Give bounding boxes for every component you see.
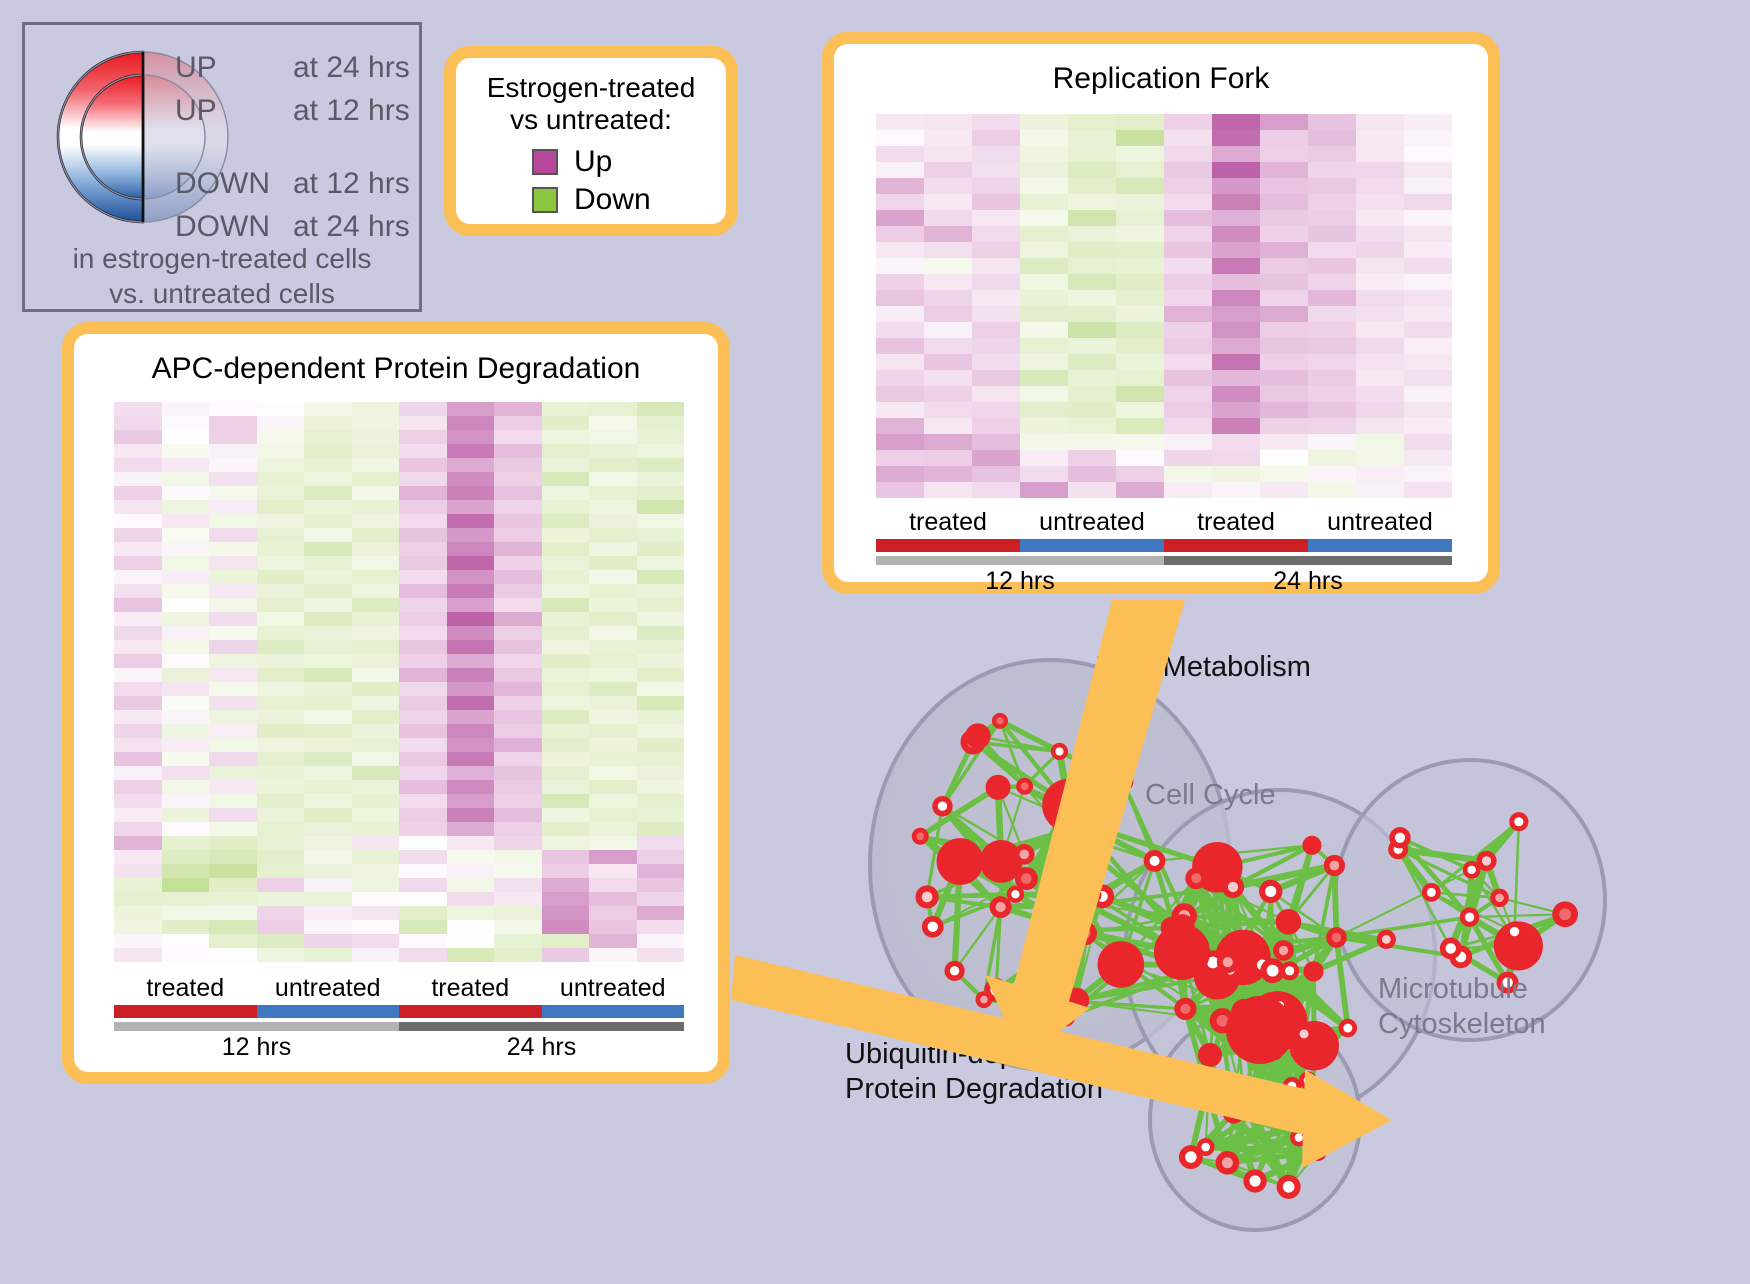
heatmap-cell — [447, 892, 495, 906]
heatmap-cell — [447, 402, 495, 416]
network-node[interactable] — [1309, 1143, 1327, 1161]
heatmap-cell — [1260, 482, 1308, 498]
network-node[interactable] — [1509, 812, 1528, 831]
node-core — [1021, 782, 1029, 790]
network-node[interactable] — [922, 916, 944, 938]
heatmap-cell — [637, 948, 685, 962]
network-node[interactable] — [1007, 886, 1024, 903]
node-core — [1482, 856, 1491, 865]
heatmap-cell — [447, 514, 495, 528]
heatmap-cell — [162, 444, 210, 458]
heatmap-cell — [1260, 402, 1308, 418]
heatmap-cell — [1068, 482, 1116, 498]
heatmap-cell — [162, 696, 210, 710]
heatmap-cell — [352, 640, 400, 654]
heatmap-cell — [304, 542, 352, 556]
heatmap-cell — [257, 402, 305, 416]
heatmap-cell — [1212, 130, 1260, 146]
heatmap-cell — [1164, 242, 1212, 258]
heatmap-cell — [352, 556, 400, 570]
heatmap-cell — [1212, 418, 1260, 434]
heatmap-cell — [399, 668, 447, 682]
heatmap-cell — [114, 710, 162, 724]
heatmap-cell — [1260, 194, 1308, 210]
heatmap-cell — [352, 682, 400, 696]
heatmap-cell — [494, 808, 542, 822]
heatmap-cell — [876, 338, 924, 354]
heatmap-cell — [1260, 450, 1308, 466]
heatmap-cell — [352, 850, 400, 864]
heatmap-cell — [447, 598, 495, 612]
heatmap-cell — [399, 752, 447, 766]
network-node[interactable] — [975, 991, 992, 1008]
network-node[interactable] — [1198, 1043, 1222, 1067]
network-node[interactable] — [1064, 988, 1089, 1013]
network-node[interactable] — [932, 796, 952, 816]
replication-time-labels: 12 hrs24 hrs — [876, 567, 1452, 596]
heatmap-cell — [637, 850, 685, 864]
heatmap-cell — [589, 472, 637, 486]
heatmap-cell — [589, 430, 637, 444]
network-node[interactable] — [1299, 1071, 1317, 1089]
heatmap-cell — [447, 850, 495, 864]
network-node[interactable] — [1185, 867, 1207, 889]
color-key-rows: UP at 24 hrs UP at 12 hrs DOWN at 12 hrs… — [175, 51, 425, 253]
network-node[interactable] — [1302, 836, 1321, 855]
heatmap-cell — [494, 878, 542, 892]
heatmap-cell — [257, 598, 305, 612]
network-node[interactable] — [1422, 883, 1441, 902]
heatmap-cell — [162, 514, 210, 528]
heatmap-cell — [494, 402, 542, 416]
heatmap-cell — [257, 808, 305, 822]
network-node[interactable] — [1260, 958, 1285, 983]
heatmap-cell — [209, 654, 257, 668]
heatmap-cell — [494, 612, 542, 626]
heatmap-cell — [972, 210, 1020, 226]
heatmap-cell — [589, 500, 637, 514]
network-node[interactable] — [1476, 851, 1496, 871]
heatmap-cell — [972, 306, 1020, 322]
heatmap-cell — [589, 738, 637, 752]
node-core — [1285, 966, 1294, 975]
heatmap-cell — [1068, 194, 1116, 210]
network-node[interactable] — [1552, 901, 1578, 927]
network-node[interactable] — [1111, 770, 1133, 792]
heatmap-cell — [209, 458, 257, 472]
heatmap-cell — [1068, 434, 1116, 450]
heatmap-cell — [399, 738, 447, 752]
network-node[interactable] — [1053, 820, 1075, 842]
heatmap-cell — [1212, 274, 1260, 290]
apc-degradation-title: APC-dependent Protein Degradation — [74, 352, 718, 386]
heatmap-cell — [589, 584, 637, 598]
heatmap-cell — [542, 948, 590, 962]
node-core — [996, 717, 1003, 724]
heatmap-cell — [447, 794, 495, 808]
heatmap-cell — [1020, 194, 1068, 210]
heatmap-cell — [399, 780, 447, 794]
heatmap-cell — [876, 386, 924, 402]
heatmap-cell — [209, 556, 257, 570]
heatmap-cell — [352, 416, 400, 430]
heatmap-cell — [542, 668, 590, 682]
heatmap-cell — [1356, 290, 1404, 306]
heatmap-cell — [447, 556, 495, 570]
heatmap-cell — [304, 822, 352, 836]
heatmap-cell — [542, 920, 590, 934]
network-node[interactable] — [1174, 998, 1196, 1020]
network-node[interactable] — [1306, 1111, 1330, 1135]
heatmap-cell — [257, 836, 305, 850]
heatmap-cell — [589, 458, 637, 472]
heatmap-cell — [1260, 178, 1308, 194]
heatmap-cell — [114, 458, 162, 472]
heatmap-cell — [876, 226, 924, 242]
heatmap-cell — [542, 472, 590, 486]
heatmap-cell — [352, 794, 400, 808]
network-node[interactable] — [944, 961, 964, 981]
heatmap-cell — [257, 542, 305, 556]
heatmap-cell — [494, 752, 542, 766]
heatmap-cell — [924, 178, 972, 194]
heatmap-cell — [589, 808, 637, 822]
network-node[interactable] — [1490, 889, 1509, 908]
heatmap-cell — [257, 626, 305, 640]
heatmap-cell — [1068, 450, 1116, 466]
heatmap-cell — [494, 766, 542, 780]
network-node[interactable] — [1377, 930, 1396, 949]
heatmap-cell — [114, 920, 162, 934]
heatmap-cell — [924, 450, 972, 466]
heatmap-cell — [924, 242, 972, 258]
heatmap-cell — [637, 738, 685, 752]
heatmap-cell — [972, 386, 1020, 402]
heatmap-cell — [589, 682, 637, 696]
heatmap-group-label: untreated — [1308, 508, 1452, 537]
heatmap-cell — [304, 738, 352, 752]
heatmap-cell — [162, 626, 210, 640]
node-core — [1445, 943, 1455, 953]
heatmap-cell — [1164, 226, 1212, 242]
heatmap-cell — [876, 242, 924, 258]
network-node[interactable] — [1246, 1106, 1262, 1122]
network-node[interactable] — [1339, 1019, 1358, 1038]
heatmap-cell — [542, 570, 590, 584]
node-core — [916, 832, 924, 840]
heatmap-cell — [1356, 210, 1404, 226]
network-node[interactable] — [1217, 951, 1239, 973]
heatmap-cell — [257, 948, 305, 962]
heatmap-cell — [972, 418, 1020, 434]
heatmap-cell — [304, 850, 352, 864]
heatmap-cell — [1404, 434, 1452, 450]
network-node[interactable] — [1440, 938, 1462, 960]
heatmap-cell — [257, 486, 305, 500]
heatmap-cell — [162, 682, 210, 696]
node-core — [972, 730, 984, 742]
heatmap-cell — [637, 444, 685, 458]
network-node[interactable] — [1226, 996, 1294, 1064]
heatmap-cell — [876, 210, 924, 226]
heatmap-cell — [494, 836, 542, 850]
network-node[interactable] — [1016, 778, 1033, 795]
heatmap-group-label: untreated — [257, 974, 400, 1003]
network-node[interactable] — [1259, 880, 1282, 903]
heatmap-cell — [257, 640, 305, 654]
heatmap-cell — [304, 920, 352, 934]
network-node[interactable] — [1460, 907, 1480, 927]
heatmap-cell — [542, 766, 590, 780]
network-node[interactable] — [992, 713, 1008, 729]
network-node[interactable] — [986, 775, 1011, 800]
heatmap-cell — [637, 724, 685, 738]
node-ring — [1154, 924, 1210, 980]
node-core — [928, 922, 938, 932]
heatmap-cell — [1404, 386, 1452, 402]
network-node[interactable] — [1303, 961, 1323, 981]
heatmap-cell — [542, 402, 590, 416]
heatmap-cell — [1404, 178, 1452, 194]
node-core — [1080, 928, 1091, 939]
heatmap-cell — [637, 626, 685, 640]
heatmap-cell — [1308, 418, 1356, 434]
heatmap-cell — [162, 710, 210, 724]
heatmap-cell — [399, 514, 447, 528]
heatmap-cell — [589, 878, 637, 892]
heatmap-cell — [399, 556, 447, 570]
heatmap-cell — [304, 878, 352, 892]
enrichment-network: DNA Metabolism Cell Cycle Microtubule Cy… — [790, 600, 1750, 1279]
heatmap-cell — [1068, 322, 1116, 338]
heatmap-cell — [542, 682, 590, 696]
heatmap-cell — [1020, 226, 1068, 242]
heatmap-cell — [637, 934, 685, 948]
legend-heading-line-1: Estrogen-treated — [456, 72, 726, 104]
heatmap-group-bar — [1308, 539, 1452, 552]
heatmap-cell — [1260, 274, 1308, 290]
heatmap-cell — [1020, 306, 1068, 322]
heatmap-cell — [304, 500, 352, 514]
heatmap-cell — [637, 878, 685, 892]
heatmap-cell — [447, 626, 495, 640]
heatmap-cell — [924, 226, 972, 242]
network-node[interactable] — [1389, 827, 1410, 848]
heatmap-cell — [447, 906, 495, 920]
heatmap-cell — [589, 934, 637, 948]
heatmap-cell — [637, 668, 685, 682]
heatmap-cell — [1068, 242, 1116, 258]
heatmap-cell — [542, 808, 590, 822]
network-node[interactable] — [1326, 927, 1347, 948]
heatmap-cell — [447, 570, 495, 584]
node-core — [1282, 916, 1294, 928]
heatmap-cell — [399, 850, 447, 864]
heatmap-cell — [162, 850, 210, 864]
heatmap-cell — [447, 416, 495, 430]
heatmap-cell — [257, 570, 305, 584]
key-footer-line-1: in estrogen-treated cells — [25, 241, 419, 276]
node-core — [1514, 817, 1523, 826]
heatmap-cell — [589, 416, 637, 430]
heatmap-cell — [399, 948, 447, 962]
network-node[interactable] — [1154, 924, 1210, 980]
network-node[interactable] — [1197, 1138, 1215, 1156]
heatmap-cell — [257, 500, 305, 514]
network-node[interactable] — [1222, 876, 1244, 898]
heatmap-cell — [399, 710, 447, 724]
heatmap-cell — [1020, 258, 1068, 274]
heatmap-cell — [494, 528, 542, 542]
heatmap-cell — [589, 570, 637, 584]
network-node[interactable] — [912, 828, 929, 845]
heatmap-cell — [972, 274, 1020, 290]
heatmap-cell — [399, 458, 447, 472]
heatmap-cell — [304, 584, 352, 598]
apc-time-labels: 12 hrs24 hrs — [114, 1033, 684, 1062]
heatmap-cell — [972, 114, 1020, 130]
heatmap-cell — [1164, 146, 1212, 162]
network-node[interactable] — [1276, 909, 1302, 935]
heatmap-cell — [257, 864, 305, 878]
node-core — [1228, 1107, 1238, 1117]
legend-label-down: Down — [574, 183, 651, 217]
heatmap-cell — [1308, 274, 1356, 290]
network-node[interactable] — [937, 838, 984, 885]
network-node[interactable] — [965, 723, 991, 749]
heatmap-cell — [494, 696, 542, 710]
network-node[interactable] — [1294, 1024, 1314, 1044]
heatmap-cell — [1404, 274, 1452, 290]
heatmap-cell — [304, 710, 352, 724]
heatmap-cell — [589, 836, 637, 850]
heatmap-cell — [1356, 322, 1404, 338]
heatmap-cell — [1404, 322, 1452, 338]
heatmap-cell — [399, 724, 447, 738]
heatmap-cell — [1212, 466, 1260, 482]
network-node[interactable] — [1144, 850, 1166, 872]
heatmap-cell — [637, 570, 685, 584]
heatmap-cell — [209, 892, 257, 906]
heatmap-cell — [1404, 466, 1452, 482]
network-node[interactable] — [915, 885, 938, 908]
heatmap-cell — [1260, 370, 1308, 386]
network-node[interactable] — [1273, 940, 1294, 961]
heatmap-cell — [637, 766, 685, 780]
heatmap-cell — [542, 906, 590, 920]
heatmap-cell — [162, 528, 210, 542]
key-footer: in estrogen-treated cells vs. untreated … — [25, 241, 419, 311]
heatmap-time-label: 24 hrs — [1164, 567, 1452, 596]
heatmap-cell — [1020, 386, 1068, 402]
heatmap-cell — [494, 654, 542, 668]
replication-fork-title: Replication Fork — [834, 62, 1488, 96]
heatmap-cell — [114, 906, 162, 920]
heatmap-cell — [494, 934, 542, 948]
heatmap-cell — [257, 528, 305, 542]
heatmap-cell — [399, 500, 447, 514]
heatmap-cell — [637, 430, 685, 444]
heatmap-cell — [924, 290, 972, 306]
key-row: UP at 12 hrs — [175, 94, 425, 137]
heatmap-cell — [399, 612, 447, 626]
network-node[interactable] — [1098, 941, 1145, 988]
key-footer-line-2: vs. untreated cells — [25, 276, 419, 311]
heatmap-cell — [1356, 402, 1404, 418]
node-core — [938, 802, 947, 811]
heatmap-cell — [114, 850, 162, 864]
node-core — [1071, 994, 1083, 1006]
heatmap-cell — [924, 370, 972, 386]
heatmap-cell — [1212, 306, 1260, 322]
heatmap-cell — [1020, 338, 1068, 354]
key-time: at 24 hrs — [293, 51, 410, 85]
network-node[interactable] — [1223, 1102, 1245, 1124]
heatmap-cell — [542, 514, 590, 528]
heatmap-cell — [257, 780, 305, 794]
heatmap-cell — [1404, 338, 1452, 354]
heatmap-cell — [1116, 482, 1164, 498]
node-core — [1204, 1049, 1215, 1060]
network-node[interactable] — [1075, 895, 1092, 912]
heatmap-group-bar — [399, 1005, 542, 1018]
heatmap-cell — [1404, 242, 1452, 258]
heatmap-cell — [542, 878, 590, 892]
heatmap-cell — [1308, 194, 1356, 210]
node-core — [1265, 886, 1276, 897]
network-node[interactable] — [1277, 1175, 1301, 1199]
network-node[interactable] — [1216, 1151, 1240, 1175]
heatmap-cell — [1260, 418, 1308, 434]
network-node[interactable] — [990, 896, 1012, 918]
node-core — [1288, 1082, 1297, 1091]
heatmap-cell — [399, 696, 447, 710]
node-core — [1279, 946, 1288, 955]
heatmap-cell — [304, 682, 352, 696]
heatmap-cell — [972, 194, 1020, 210]
heatmap-cell — [1404, 450, 1452, 466]
network-node[interactable] — [1051, 743, 1068, 760]
heatmap-cell — [209, 738, 257, 752]
heatmap-cell — [1212, 178, 1260, 194]
heatmap-cell — [1308, 354, 1356, 370]
heatmap-cell — [1404, 290, 1452, 306]
heatmap-cell — [1020, 482, 1068, 498]
heatmap-cell — [589, 528, 637, 542]
heatmap-cell — [924, 194, 972, 210]
heatmap-cell — [352, 612, 400, 626]
network-node[interactable] — [1324, 855, 1345, 876]
heatmap-cell — [637, 808, 685, 822]
network-node[interactable] — [1283, 1077, 1301, 1095]
heatmap-cell — [637, 654, 685, 668]
heatmap-cell — [304, 430, 352, 444]
network-node[interactable] — [1243, 1169, 1266, 1192]
heatmap-cell — [972, 402, 1020, 418]
heatmap-cell — [114, 528, 162, 542]
heatmap-cell — [542, 752, 590, 766]
heatmap-cell — [542, 500, 590, 514]
heatmap-cell — [1212, 210, 1260, 226]
heatmap-cell — [447, 682, 495, 696]
network-node[interactable] — [1014, 844, 1035, 865]
network-node[interactable] — [1504, 921, 1524, 941]
heatmap-cell — [352, 864, 400, 878]
heatmap-cell — [162, 780, 210, 794]
network-node[interactable] — [1073, 921, 1097, 945]
heatmap-cell — [1308, 114, 1356, 130]
heatmap-cell — [1020, 322, 1068, 338]
